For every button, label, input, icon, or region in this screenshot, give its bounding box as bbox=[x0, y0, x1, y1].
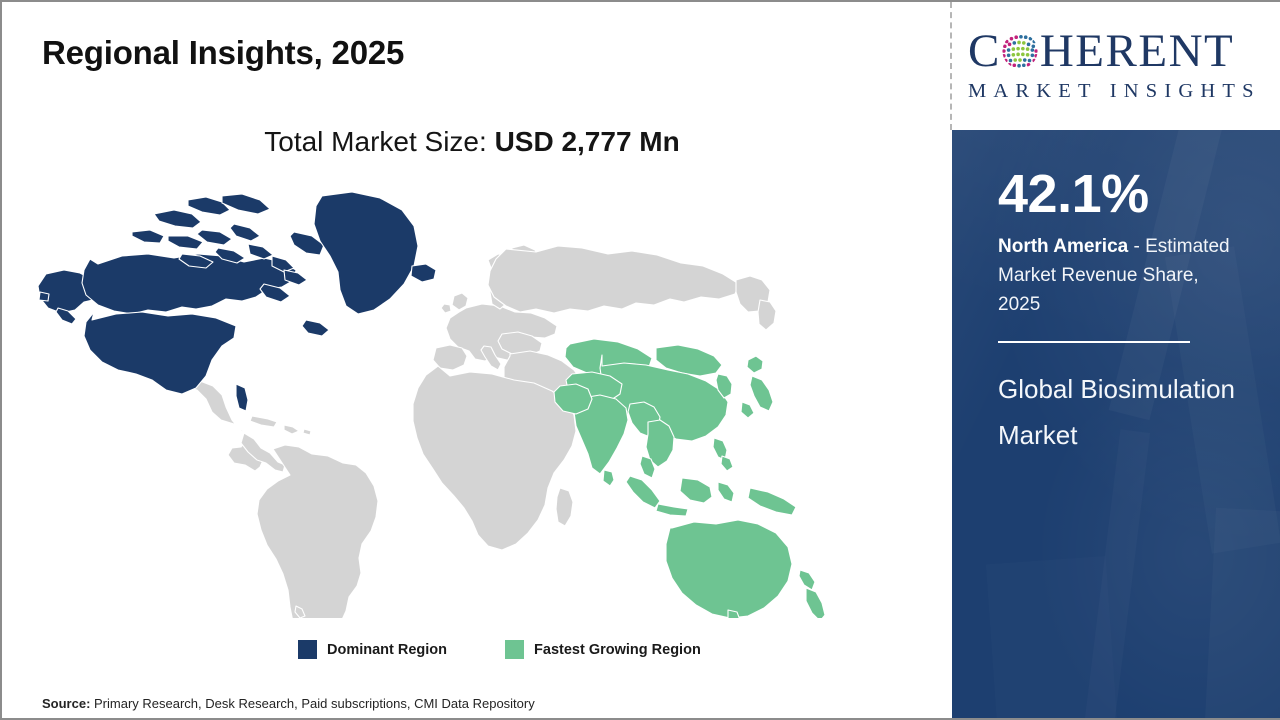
total-market-size-label: Total Market Size: bbox=[264, 126, 494, 157]
legend-label-dominant: Dominant Region bbox=[327, 642, 447, 658]
highlight-panel: 42.1% North America - Estimated Market R… bbox=[952, 130, 1280, 718]
logo-letter-c: C bbox=[968, 28, 1000, 75]
vertical-divider bbox=[950, 2, 952, 130]
logo-wordmark-rest: HERENT bbox=[1040, 28, 1234, 75]
source-value: Primary Research, Desk Research, Paid su… bbox=[94, 696, 535, 711]
page-title: Regional Insights, 2025 bbox=[42, 34, 404, 72]
legend-label-growth: Fastest Growing Region bbox=[534, 642, 701, 658]
stat-value: 42.1% bbox=[998, 166, 1238, 223]
legend-item-dominant: Dominant Region bbox=[298, 640, 447, 659]
logo-tagline: MARKET INSIGHTS bbox=[968, 80, 1264, 103]
source-note: Source: Primary Research, Desk Research,… bbox=[42, 696, 535, 711]
logo-wordmark: C bbox=[968, 24, 1264, 78]
green-square-icon bbox=[505, 640, 524, 659]
legend-item-growth: Fastest Growing Region bbox=[505, 640, 701, 659]
map-legend: Dominant Region Fastest Growing Region bbox=[298, 640, 701, 659]
brand-logo: C bbox=[968, 24, 1264, 112]
stat-region-name: North America bbox=[998, 236, 1128, 257]
dotted-globe-icon bbox=[1001, 32, 1039, 70]
infographic-canvas: Regional Insights, 2025 Total Market Siz… bbox=[0, 0, 1280, 720]
navy-square-icon bbox=[298, 640, 317, 659]
total-market-size: Total Market Size: USD 2,777 Mn bbox=[2, 126, 942, 158]
total-market-size-value: USD 2,777 Mn bbox=[495, 126, 680, 157]
map-growth-regions bbox=[554, 339, 825, 618]
map-dominant-regions bbox=[38, 192, 436, 411]
source-label: Source: bbox=[42, 696, 94, 711]
panel-divider bbox=[998, 341, 1190, 343]
world-map bbox=[36, 188, 836, 618]
stat-description: North America - Estimated Market Revenue… bbox=[998, 232, 1238, 320]
market-name: Global Biosimulation Market bbox=[998, 367, 1238, 459]
